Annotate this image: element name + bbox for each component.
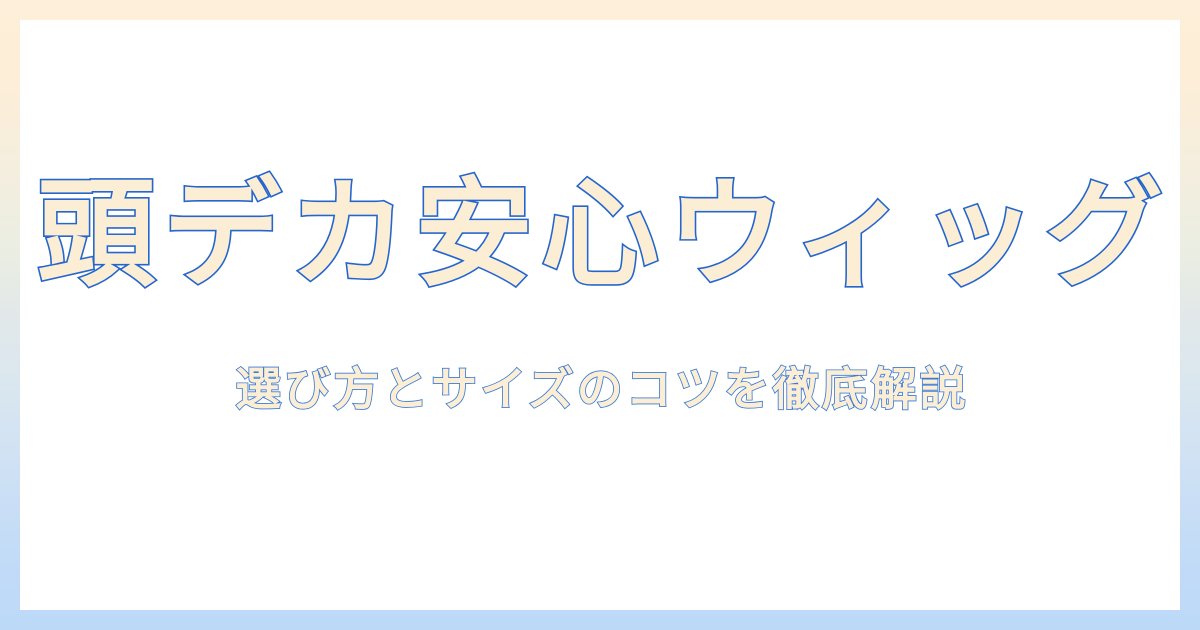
- banner-card: 頭デカ安心ウィッグ 選び方とサイズのコツを徹底解説: [20, 20, 1180, 610]
- banner-title: 頭デカ安心ウィッグ: [20, 168, 1180, 300]
- banner-frame: 頭デカ安心ウィッグ 選び方とサイズのコツを徹底解説: [0, 0, 1200, 630]
- banner-content: 頭デカ安心ウィッグ 選び方とサイズのコツを徹底解説: [20, 168, 1180, 417]
- banner-subtitle: 選び方とサイズのコツを徹底解説: [20, 362, 1180, 417]
